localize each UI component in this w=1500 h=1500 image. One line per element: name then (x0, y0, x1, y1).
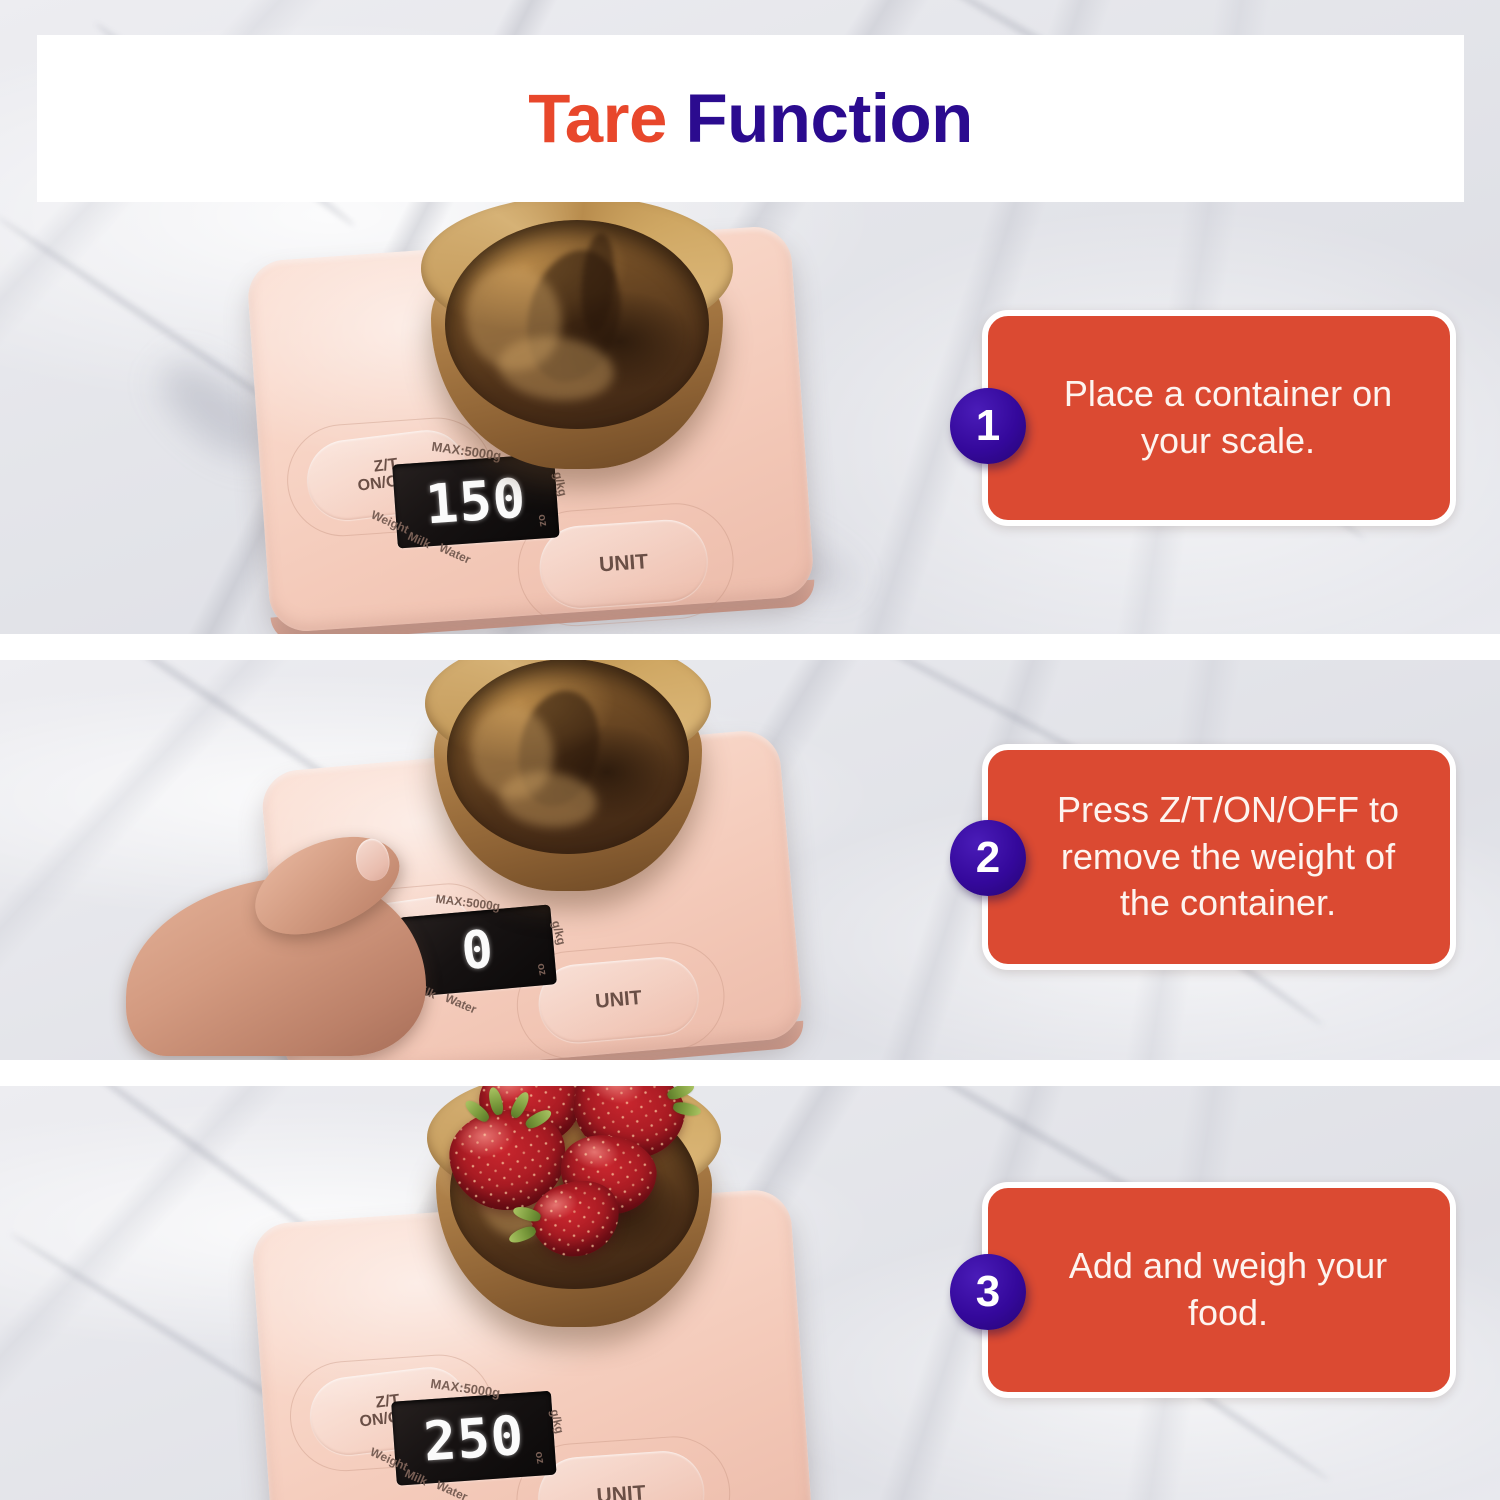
step-number-2: 2 (976, 836, 1000, 880)
strawberry-leaf (507, 1224, 537, 1246)
lcd-value-1: 150 (424, 466, 529, 536)
infographic-page: Z/T ON/OFF UNIT 150 oz MAX:5000g g/kg We… (0, 0, 1500, 1500)
step-card-2: Press Z/T/ON/OFF to remove the weight of… (982, 744, 1456, 970)
wooden-bowl-2 (422, 660, 714, 886)
step-number-3: 3 (976, 1270, 1000, 1314)
wooden-bowl-1 (418, 196, 736, 464)
step-text-3: Add and weigh your food. (1046, 1243, 1410, 1337)
step-badge-1: 1 (950, 388, 1026, 464)
lcd-unit-2: oz (535, 962, 549, 976)
step-number-1: 1 (976, 404, 1000, 448)
panel-divider-1 (0, 634, 1500, 660)
panel-divider-2 (0, 1060, 1500, 1086)
page-title: Tare Function (528, 79, 973, 158)
title-banner: Tare Function (37, 35, 1464, 202)
unit-button-label: UNIT (598, 551, 648, 576)
step-badge-3: 3 (950, 1254, 1026, 1330)
unit-button-label-3: UNIT (596, 1482, 646, 1500)
step-text-2: Press Z/T/ON/OFF to remove the weight of… (1046, 787, 1410, 927)
lcd-unit-1: oz (536, 513, 550, 527)
title-word-tare: Tare (528, 80, 667, 157)
lcd-value-2: 0 (459, 920, 496, 983)
step-text-1: Place a container on your scale. (1046, 371, 1410, 465)
lcd-value-3: 250 (421, 1403, 526, 1473)
unit-button-label-2: UNIT (594, 987, 642, 1012)
step-card-3: Add and weigh your food. (982, 1182, 1456, 1398)
title-word-function: Function (686, 80, 973, 157)
step-card-1: Place a container on your scale. (982, 310, 1456, 526)
hand-pressing-button (126, 856, 436, 1056)
unit-button[interactable]: UNIT (537, 517, 710, 611)
indicator-water-2: Water (443, 991, 479, 1017)
lcd-unit-3: oz (533, 1451, 547, 1465)
strawberries-group (424, 1086, 724, 1312)
step-badge-2: 2 (950, 820, 1026, 896)
